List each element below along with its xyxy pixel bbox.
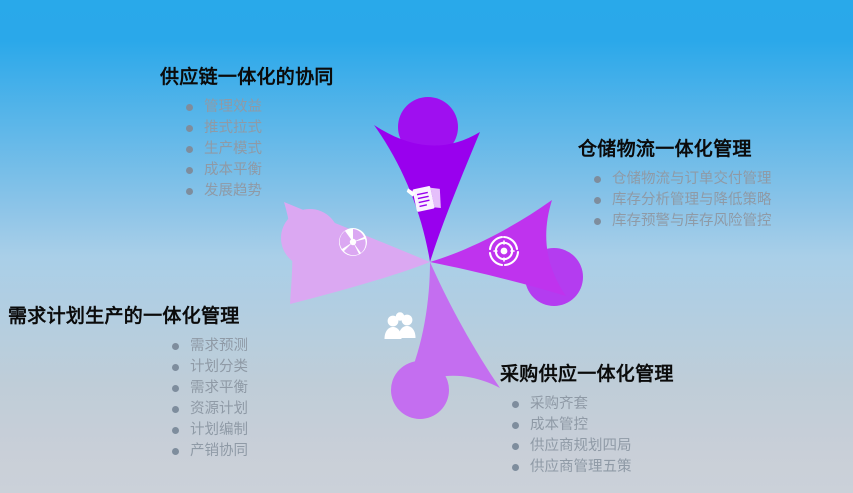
list-item: 推式拉式 [182,118,334,139]
list-item: 需求平衡 [168,378,248,399]
block-procurement-list: 采购齐套 成本管控 供应商规划四局 供应商管理五策 [508,394,674,478]
list-item: 成本平衡 [182,160,334,181]
list-item: 采购齐套 [508,394,674,415]
block-supply-chain-title: 供应链一体化的协同 [160,66,334,90]
list-item: 库存分析管理与降低策略 [590,190,772,211]
list-item: 供应商规划四局 [508,436,674,457]
list-item: 发展趋势 [182,181,334,202]
list-item: 计划编制 [168,420,248,441]
list-item: 管理效益 [182,97,334,118]
block-supply-chain-list: 管理效益 推式拉式 生产模式 成本平衡 发展趋势 [182,97,334,202]
petal-demand-planning[interactable] [391,262,500,419]
list-item: 生产模式 [182,139,334,160]
block-warehouse: 仓储物流一体化管理 仓储物流与订单交付管理 库存分析管理与降低策略 库存预警与库… [578,138,772,232]
gear-cog-icon [490,237,518,265]
slide-canvas: 供应链一体化的协同 管理效益 推式拉式 生产模式 成本平衡 发展趋势 仓储物流一… [0,0,853,493]
list-item: 库存预警与库存风险管控 [590,211,772,232]
list-item: 供应商管理五策 [508,457,674,478]
list-item: 成本管控 [508,415,674,436]
block-warehouse-list: 仓储物流与订单交付管理 库存分析管理与降低策略 库存预警与库存风险管控 [590,169,772,232]
list-item: 需求预测 [168,336,248,357]
block-procurement-title: 采购供应一体化管理 [500,363,674,387]
block-procurement: 采购供应一体化管理 采购齐套 成本管控 供应商规划四局 供应商管理五策 [500,363,674,478]
block-supply-chain: 供应链一体化的协同 管理效益 推式拉式 生产模式 成本平衡 发展趋势 [160,66,334,202]
block-demand-planning-list: 需求预测 计划分类 需求平衡 资源计划 计划编制 产销协同 [168,336,248,462]
list-item: 资源计划 [168,399,248,420]
list-item: 计划分类 [168,357,248,378]
block-warehouse-title: 仓储物流一体化管理 [578,138,772,162]
block-demand-planning: 需求计划生产的一体化管理 需求预测 计划分类 需求平衡 资源计划 计划编制 产销… [8,305,248,462]
petal-shape-demand-planning [402,262,500,392]
petal-shape-procurement [430,200,566,296]
list-item: 产销协同 [168,441,248,462]
list-item: 仓储物流与订单交付管理 [590,169,772,190]
people-group-icon [385,312,416,339]
block-demand-planning-title: 需求计划生产的一体化管理 [8,305,248,329]
petal-warehouse[interactable] [374,97,480,262]
pie-segments-icon [339,228,367,256]
